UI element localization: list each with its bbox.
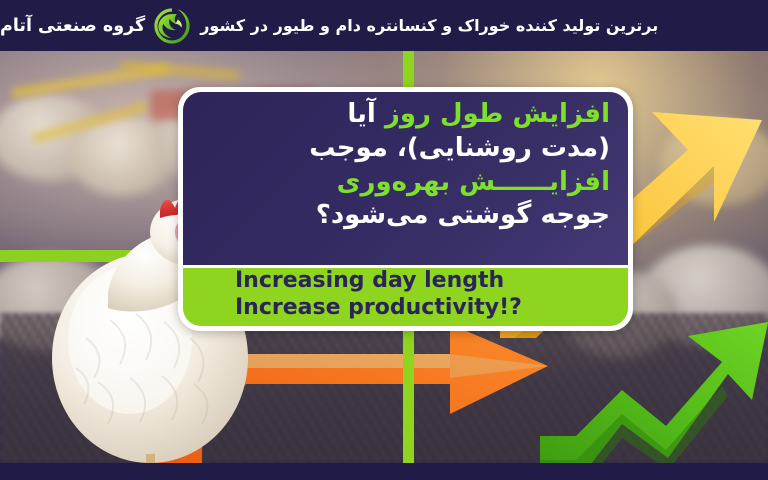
headline-card-inner: افزایش طول روز آیا (مدت روشنایی)، موجب ا…	[183, 92, 628, 326]
promotional-banner: افزایش طول روز آیا (مدت روشنایی)، موجب ا…	[0, 0, 768, 480]
persian-headline-line-1: افزایش طول روز آیا	[201, 98, 610, 132]
persian-headline-line-1-green: افزایش طول روز	[385, 99, 610, 129]
headline-card: افزایش طول روز آیا (مدت روشنایی)، موجب ا…	[178, 87, 633, 331]
phoenix-bird-logo-icon	[152, 6, 192, 46]
persian-headline-line-1-white: آیا	[347, 99, 375, 129]
persian-headline-panel: افزایش طول روز آیا (مدت روشنایی)، موجب ا…	[183, 92, 628, 265]
brand-name: گروه صنعتی آتام	[0, 16, 145, 36]
english-headline-line-2: Increase productivity!?	[235, 295, 522, 322]
persian-headline-line-4: جوجه گوشتی می‌شود؟	[201, 199, 610, 233]
persian-headline-line-2: (مدت روشنایی)، موجب	[201, 132, 610, 166]
footer-bar	[0, 463, 768, 480]
brand-lockup[interactable]: گروه صنعتی آتام	[0, 6, 192, 46]
english-headline-panel: Increasing day length Increase productiv…	[183, 268, 628, 326]
header-tagline: برترین تولید کننده خوراک و کنسانتره دام …	[200, 16, 704, 35]
header-bar: گروه صنعتی آتام برترین تولید کننده خوراک…	[0, 0, 768, 51]
persian-headline-line-3: افزایــــــش بهره‌وری	[201, 166, 610, 200]
english-headline-line-1: Increasing day length	[235, 268, 504, 295]
